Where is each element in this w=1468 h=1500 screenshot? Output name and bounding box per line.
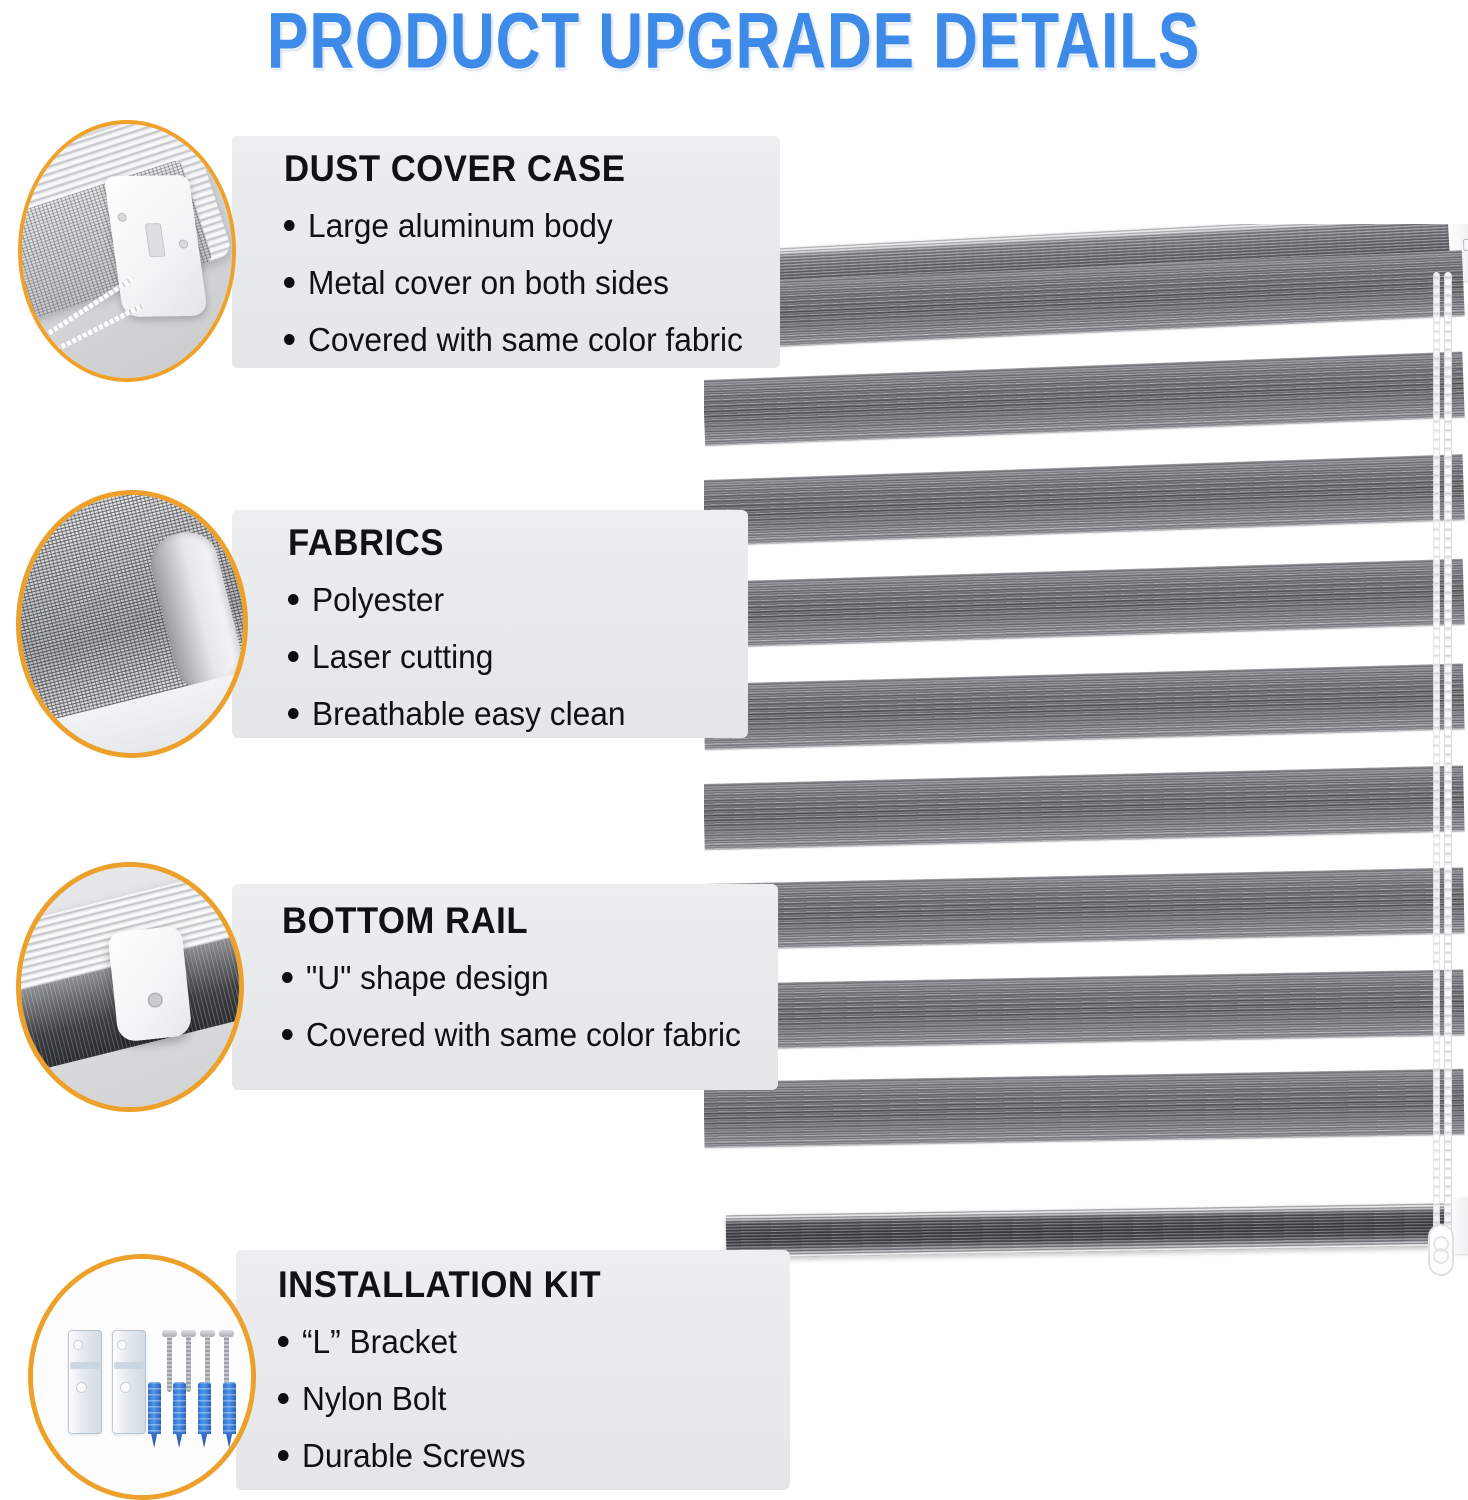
bullet-text: Metal cover on both sides: [308, 264, 669, 303]
list-item: Polyester: [288, 581, 712, 620]
product-image-zebra-blind: [704, 224, 1468, 1284]
feature-heading: FABRICS: [288, 524, 703, 563]
l-bracket-icon: [68, 1330, 102, 1434]
list-item: Breathable easy clean: [288, 695, 712, 734]
bullet-dot-icon: [282, 972, 293, 983]
feature-bottom-rail: BOTTOM RAIL "U" shape design Covered wit…: [0, 862, 790, 1112]
headrail-bracket-slot: [1463, 239, 1468, 251]
feature-panel-content: FABRICS Polyester Laser cutting Breathab…: [232, 510, 748, 738]
feature-installation-kit: INSTALLATION KIT “L” Bracket Nylon Bolt …: [0, 1244, 800, 1500]
list-item: Laser cutting: [288, 638, 712, 677]
nylon-bolt-icon: [173, 1382, 186, 1448]
blind-headrail: [720, 224, 1466, 310]
feature-bullet-list: “L” Bracket Nylon Bolt Durable Screws: [278, 1323, 772, 1476]
feature-bullet-list: Polyester Laser cutting Breathable easy …: [288, 581, 730, 734]
list-item: Large aluminum body: [284, 207, 743, 246]
dust-cover-case-photo: [18, 120, 236, 382]
feature-panel-content: BOTTOM RAIL "U" shape design Covered wit…: [232, 884, 778, 1090]
bullet-text: Durable Screws: [302, 1437, 526, 1476]
blind-band: [704, 765, 1465, 850]
feature-heading: BOTTOM RAIL: [282, 902, 731, 941]
blind-band: [704, 352, 1465, 446]
bullet-dot-icon: [278, 1336, 289, 1347]
bottom-rail-photo: [16, 862, 244, 1112]
feature-panel-content: INSTALLATION KIT “L” Bracket Nylon Bolt …: [236, 1250, 790, 1490]
blind-band: [704, 969, 1464, 1050]
fabric-roll-photo: [16, 490, 248, 758]
installation-kit-photo: [28, 1254, 256, 1500]
bead-chain-return: [1433, 272, 1440, 1272]
list-item: Nylon Bolt: [278, 1380, 752, 1419]
feature-panel: INSTALLATION KIT “L” Bracket Nylon Bolt …: [236, 1250, 790, 1490]
bullet-text: Covered with same color fabric: [306, 1016, 741, 1055]
bullet-text: Breathable easy clean: [312, 695, 626, 734]
list-item: Durable Screws: [278, 1437, 752, 1476]
bullet-text: Covered with same color fabric: [308, 321, 743, 360]
feature-fabrics: FABRICS Polyester Laser cutting Breathab…: [0, 488, 790, 758]
bottom-rail-image: [21, 867, 239, 1107]
bullet-dot-icon: [284, 277, 295, 288]
feature-panel-content: DUST COVER CASE Large aluminum body Meta…: [232, 136, 780, 368]
nylon-bolt-icon: [198, 1382, 211, 1448]
chain-tensioner: [1428, 1224, 1454, 1276]
bullet-dot-icon: [284, 220, 295, 231]
bullet-text: Laser cutting: [312, 638, 493, 677]
page-title: PRODUCT UPGRADE DETAILS: [267, 2, 1200, 80]
bullet-text: Large aluminum body: [308, 207, 613, 246]
blind-band: [704, 1069, 1464, 1148]
l-bracket-icon: [112, 1330, 146, 1434]
screw-icon: [118, 213, 128, 222]
bullet-dot-icon: [278, 1393, 289, 1404]
feature-heading: DUST COVER CASE: [284, 150, 733, 189]
list-item: Covered with same color fabric: [284, 321, 743, 360]
feature-bullet-list: "U" shape design Covered with same color…: [282, 959, 760, 1055]
blind-band: [704, 867, 1465, 950]
headrail-end-cap: [1447, 224, 1468, 282]
blind-stage: [704, 224, 1468, 1284]
bullet-dot-icon: [288, 594, 299, 605]
bottom-rail-end-cap: [1451, 1198, 1468, 1254]
bullet-dot-icon: [288, 708, 299, 719]
blind-bottom-rail: [726, 1202, 1467, 1258]
blind-band: [704, 250, 1465, 350]
dust-cover-case-image: [22, 124, 232, 378]
bullet-text: "U" shape design: [306, 959, 549, 998]
chain-slot-icon: [145, 223, 166, 257]
list-item: “L” Bracket: [278, 1323, 752, 1362]
feature-panel: DUST COVER CASE Large aluminum body Meta…: [232, 136, 780, 368]
header: PRODUCT UPGRADE DETAILS: [0, 0, 1468, 120]
feature-heading: INSTALLATION KIT: [278, 1266, 742, 1305]
feature-dust-cover-case: DUST COVER CASE Large aluminum body Meta…: [0, 118, 790, 388]
blind-band: [704, 454, 1465, 546]
fabric-image: [21, 495, 243, 753]
bullet-dot-icon: [282, 1029, 293, 1040]
list-item: "U" shape design: [282, 959, 741, 998]
list-item: Covered with same color fabric: [282, 1016, 741, 1055]
list-item: Metal cover on both sides: [284, 264, 743, 303]
feature-bullet-list: Large aluminum body Metal cover on both …: [284, 207, 762, 360]
bullet-dot-icon: [284, 334, 295, 345]
nylon-bolts-group: [148, 1382, 236, 1448]
feature-panel: FABRICS Polyester Laser cutting Breathab…: [232, 510, 748, 738]
bullet-dot-icon: [278, 1450, 289, 1461]
rail-end-cap: [107, 926, 192, 1044]
nylon-bolt-icon: [223, 1382, 236, 1448]
bead-chain: [1444, 272, 1452, 1272]
blind-band: [704, 559, 1465, 648]
bullet-text: Polyester: [312, 581, 444, 620]
feature-panel: BOTTOM RAIL "U" shape design Covered wit…: [232, 884, 778, 1090]
screw-icon: [179, 240, 189, 249]
bullet-text: Nylon Bolt: [302, 1380, 446, 1419]
nylon-bolt-icon: [148, 1382, 161, 1448]
bullet-dot-icon: [288, 651, 299, 662]
blind-band: [704, 663, 1465, 750]
bullet-text: “L” Bracket: [302, 1323, 457, 1362]
installation-kit-image: [33, 1259, 251, 1495]
